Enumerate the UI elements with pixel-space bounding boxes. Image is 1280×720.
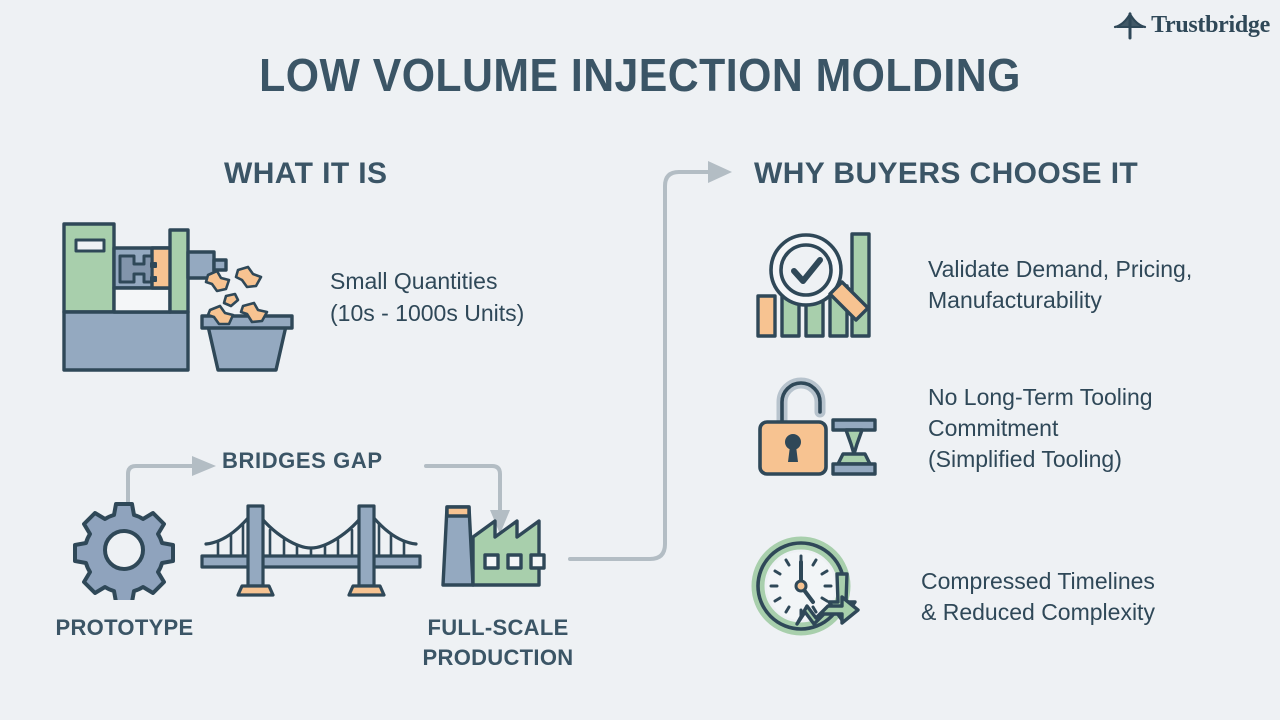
full-scale-line-2: PRODUCTION	[398, 643, 598, 673]
clock-fast-arrow-icon	[745, 532, 877, 655]
brand-name: Trustbridge	[1151, 12, 1270, 39]
flow-caption-full-scale-production: FULL-SCALE PRODUCTION	[398, 613, 598, 672]
page-title: LOW VOLUME INJECTION MOLDING	[45, 48, 1235, 102]
bridges-gap-label: BRIDGES GAP	[222, 448, 383, 474]
benefit-item-validate-demand: Validate Demand, Pricing, Manufacturabil…	[752, 224, 1228, 347]
benefit-3-line-1: Compressed Timelines	[921, 566, 1221, 597]
brand-logo: Trustbridge	[1113, 10, 1270, 40]
injection-molding-machine-icon	[58, 218, 308, 383]
suspension-bridge-icon	[198, 502, 424, 603]
gear-icon	[72, 500, 176, 605]
open-padlock-press-icon	[752, 368, 884, 491]
benefit-1-line-1: Validate Demand, Pricing,	[928, 254, 1228, 285]
benefit-text-2: No Long-Term Tooling Commitment (Simplif…	[928, 368, 1228, 475]
flow-caption-prototype: PROTOTYPE	[22, 613, 227, 643]
section-heading-what-it-is: WHAT IT IS	[224, 157, 387, 191]
benefit-3-line-2: & Reduced Complexity	[921, 597, 1221, 628]
bridge-icon	[1113, 10, 1147, 40]
benefit-1-line-2: Manufacturability	[928, 285, 1228, 316]
benefit-item-compressed-timelines: Compressed Timelines & Reduced Complexit…	[745, 532, 1221, 655]
full-scale-line-1: FULL-SCALE	[398, 613, 598, 643]
benefit-2-line-3: (Simplified Tooling)	[928, 444, 1228, 475]
benefit-2-line-2: Commitment	[928, 413, 1228, 444]
benefit-item-no-long-term-tooling: No Long-Term Tooling Commitment (Simplif…	[752, 368, 1228, 491]
magnifier-check-barchart-icon	[752, 224, 884, 347]
benefit-text-3: Compressed Timelines & Reduced Complexit…	[921, 532, 1221, 628]
benefit-text-1: Validate Demand, Pricing, Manufacturabil…	[928, 224, 1228, 316]
section-connector-arrow	[540, 150, 770, 585]
infographic-canvas: Trustbridge LOW VOLUME INJECTION MOLDING…	[0, 0, 1280, 720]
benefit-2-line-1: No Long-Term Tooling	[928, 382, 1228, 413]
section-heading-why-buyers-choose-it: WHY BUYERS CHOOSE IT	[754, 157, 1138, 191]
